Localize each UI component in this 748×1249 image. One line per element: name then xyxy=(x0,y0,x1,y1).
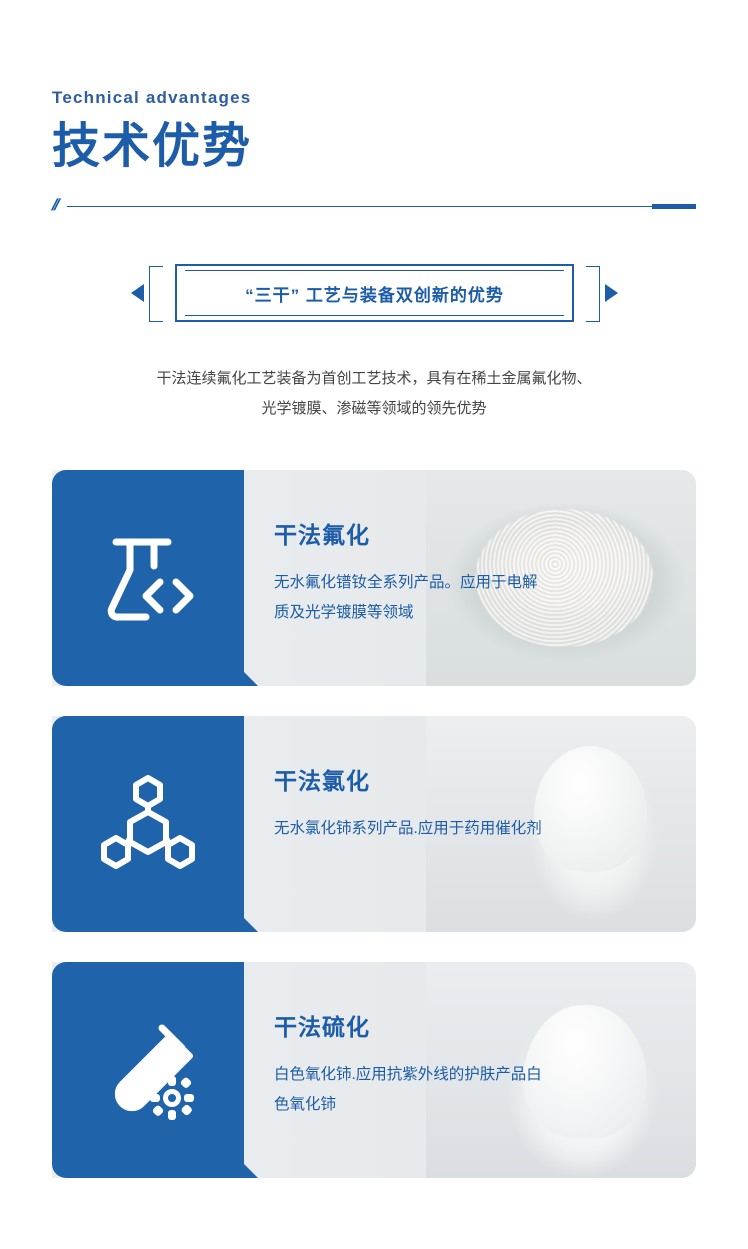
slash-icon: // xyxy=(49,198,59,214)
page-title: 技术优势 xyxy=(52,122,696,172)
card-desc-line-1: 无水氟化镨钕全系列产品。应用于电解 xyxy=(274,568,604,598)
test-tube-gear-icon xyxy=(96,1018,200,1122)
card-text: 干法氯化 无水氯化铈系列产品.应用于药用催化剂 xyxy=(274,762,604,844)
intro-paragraph: 干法连续氟化工艺装备为首创工艺技术，具有在稀土金属氟化物、 光学镀膜、渗磁等领域… xyxy=(110,364,638,424)
card-icon-panel xyxy=(52,716,244,932)
banner-text: “三干” 工艺与装备双创新的优势 xyxy=(245,281,504,306)
card-icon-panel xyxy=(52,470,244,686)
card-description: 无水氟化镨钕全系列产品。应用于电解 质及光学镀膜等领域 xyxy=(274,568,604,628)
page-header: Technical advantages 技术优势 // xyxy=(52,88,696,214)
banner-inner-line-top xyxy=(185,270,564,271)
divider-cap xyxy=(652,204,696,209)
card-text: 干法氟化 无水氟化镨钕全系列产品。应用于电解 质及光学镀膜等领域 xyxy=(274,516,604,628)
flask-code-icon xyxy=(96,526,200,630)
divider-line xyxy=(67,206,652,207)
intro-line-1: 干法连续氟化工艺装备为首创工艺技术，具有在稀土金属氟化物、 xyxy=(110,364,638,394)
bracket-left-decoration xyxy=(149,266,163,322)
card-title: 干法氟化 xyxy=(274,516,604,550)
card-desc-line-1: 白色氧化铈.应用抗紫外线的护肤产品白 xyxy=(274,1060,604,1090)
triangle-left-icon xyxy=(605,284,618,302)
banner-inner-line-bottom xyxy=(185,315,564,316)
card-item: 干法硫化 白色氧化铈.应用抗紫外线的护肤产品白 色氧化铈 xyxy=(52,962,696,1178)
header-divider: // xyxy=(52,198,696,214)
card-description: 白色氧化铈.应用抗紫外线的护肤产品白 色氧化铈 xyxy=(274,1060,604,1120)
card-desc-line-2: 色氧化铈 xyxy=(274,1090,604,1120)
card-item: 干法氟化 无水氟化镨钕全系列产品。应用于电解 质及光学镀膜等领域 xyxy=(52,470,696,686)
banner-box: “三干” 工艺与装备双创新的优势 xyxy=(175,264,574,322)
card-list: 干法氟化 无水氟化镨钕全系列产品。应用于电解 质及光学镀膜等领域 xyxy=(52,470,696,1208)
page-eyebrow: Technical advantages xyxy=(52,88,696,108)
molecule-hexagon-icon xyxy=(96,772,200,876)
card-item: 干法氯化 无水氯化铈系列产品.应用于药用催化剂 xyxy=(52,716,696,932)
intro-line-2: 光学镀膜、渗磁等领域的领先优势 xyxy=(110,394,638,424)
card-text: 干法硫化 白色氧化铈.应用抗紫外线的护肤产品白 色氧化铈 xyxy=(274,1008,604,1120)
banner: “三干” 工艺与装备双创新的优势 xyxy=(131,264,618,324)
card-desc-line-2: 质及光学镀膜等领域 xyxy=(274,598,604,628)
card-description: 无水氯化铈系列产品.应用于药用催化剂 xyxy=(274,814,604,844)
triangle-right-icon xyxy=(131,284,144,302)
card-icon-panel xyxy=(52,962,244,1178)
card-title: 干法氯化 xyxy=(274,762,604,796)
card-title: 干法硫化 xyxy=(274,1008,604,1042)
page-root: Technical advantages 技术优势 // “三干” 工艺与装备双… xyxy=(0,0,748,1249)
bracket-right-decoration xyxy=(586,266,600,322)
card-desc-line-1: 无水氯化铈系列产品.应用于药用催化剂 xyxy=(274,814,604,844)
